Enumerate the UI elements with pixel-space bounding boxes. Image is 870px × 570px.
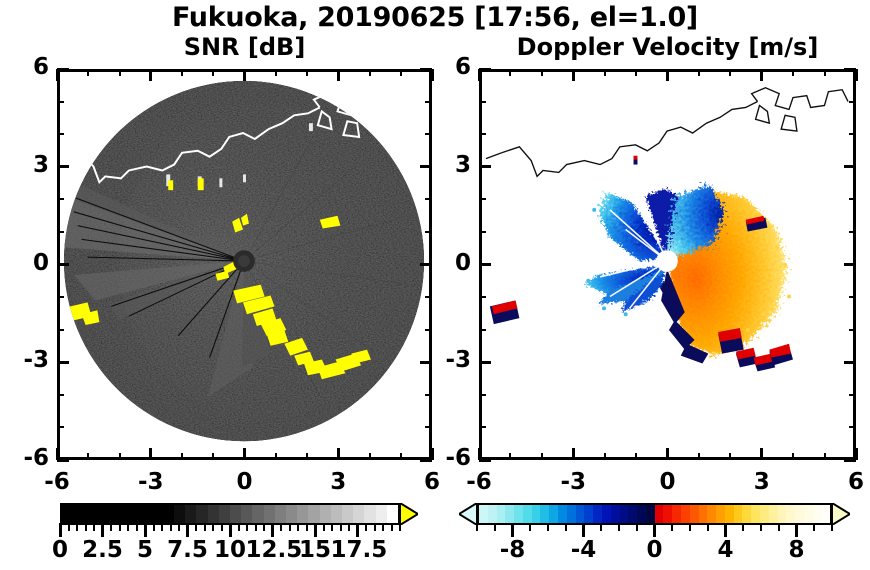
y-tick-minor	[425, 231, 432, 233]
x-tick-minor	[400, 69, 402, 76]
x-tick-label: -6	[449, 469, 509, 495]
doppler-colorbar	[477, 503, 832, 525]
x-tick-minor	[87, 69, 89, 76]
y-tick-minor	[425, 198, 432, 200]
colorbar-tick-minor	[671, 523, 673, 531]
colorbar-cell	[174, 505, 185, 523]
y-tick-minor	[425, 296, 432, 298]
colorbar-tick-label: 8	[770, 537, 824, 563]
y-tick-major	[844, 263, 856, 266]
y-tick-minor	[479, 231, 486, 233]
colorbar-cell	[84, 505, 95, 523]
colorbar-cell	[637, 505, 646, 523]
colorbar-cell	[734, 505, 743, 523]
colorbar-tick-major	[724, 523, 727, 537]
x-tick-major	[666, 69, 669, 81]
doppler-plot-area[interactable]	[479, 69, 856, 460]
x-tick-minor	[698, 69, 700, 76]
y-tick-major	[844, 68, 856, 71]
snr-colorbar-gradient	[60, 503, 400, 525]
y-tick-label: 0	[429, 250, 471, 276]
colorbar-tick-minor	[161, 523, 163, 531]
y-tick-minor	[425, 394, 432, 396]
colorbar-cell	[593, 505, 602, 523]
doppler-colorbar-gradient	[477, 503, 832, 525]
colorbar-tick-minor	[238, 523, 240, 531]
x-tick-minor	[119, 453, 121, 460]
y-tick-minor	[849, 394, 856, 396]
colorbar-cell	[795, 505, 804, 523]
x-tick-label: -6	[27, 469, 87, 495]
colorbar-tick-minor	[263, 523, 265, 531]
y-tick-minor	[849, 133, 856, 135]
colorbar-cell	[152, 505, 163, 523]
colorbar-cell	[804, 505, 813, 523]
x-tick-minor	[87, 453, 89, 460]
x-tick-minor	[729, 453, 731, 460]
y-tick-minor	[479, 133, 486, 135]
colorbar-cell	[286, 505, 297, 523]
colorbar-tick-minor	[323, 523, 325, 531]
y-tick-label: 3	[429, 152, 471, 178]
colorbar-tick-minor	[280, 523, 282, 531]
x-tick-minor	[509, 453, 511, 460]
colorbar-cell	[479, 505, 488, 523]
colorbar-tick-minor	[195, 523, 197, 531]
x-tick-minor	[369, 69, 371, 76]
colorbar-tick-minor	[529, 523, 531, 531]
colorbar-tick-minor	[565, 523, 567, 531]
colorbar-tick-minor	[476, 523, 478, 531]
y-tick-minor	[425, 329, 432, 331]
colorbar-cell	[129, 505, 140, 523]
colorbar-tick-minor	[600, 523, 602, 531]
colorbar-cell	[208, 505, 219, 523]
x-tick-minor	[792, 453, 794, 460]
y-tick-label: -6	[429, 445, 471, 471]
colorbar-tick-minor	[110, 523, 112, 531]
colorbar-cell	[716, 505, 725, 523]
colorbar-tick-minor	[221, 523, 223, 531]
x-tick-minor	[824, 69, 826, 76]
right-panel-title: Doppler Velocity [m/s]	[479, 33, 856, 61]
colorbar-tick-major	[59, 523, 62, 537]
colorbar-cell	[523, 505, 532, 523]
y-tick-major	[57, 263, 69, 266]
colorbar-cell	[387, 505, 398, 523]
colorbar-tick-label: 17.5	[331, 537, 385, 563]
colorbar-tick-minor	[813, 523, 815, 531]
x-tick-minor	[306, 69, 308, 76]
colorbar-cell	[342, 505, 353, 523]
colorbar-tick-minor	[178, 523, 180, 531]
colorbar-cell	[646, 505, 655, 523]
y-tick-minor	[57, 426, 64, 428]
x-tick-minor	[509, 69, 511, 76]
y-tick-label: -6	[7, 445, 49, 471]
y-tick-major	[479, 165, 491, 168]
colorbar-cell	[219, 505, 230, 523]
y-tick-minor	[849, 198, 856, 200]
x-tick-minor	[541, 453, 543, 460]
colorbar-tick-minor	[831, 523, 833, 531]
colorbar-tick-minor	[707, 523, 709, 531]
colorbar-tick-minor	[340, 523, 342, 531]
y-tick-major	[844, 361, 856, 364]
colorbar-cell	[275, 505, 286, 523]
y-tick-label: -3	[429, 347, 471, 373]
colorbar-cell	[96, 505, 107, 523]
x-tick-major	[243, 69, 246, 81]
colorbar-cell	[320, 505, 331, 523]
x-tick-major	[666, 448, 669, 460]
x-tick-label: -3	[543, 469, 603, 495]
y-tick-minor	[479, 426, 486, 428]
y-tick-major	[844, 165, 856, 168]
colorbar-cell	[760, 505, 769, 523]
y-tick-minor	[849, 101, 856, 103]
colorbar-cell	[672, 505, 681, 523]
colorbar-cell	[241, 505, 252, 523]
x-tick-minor	[635, 453, 637, 460]
x-tick-minor	[824, 453, 826, 460]
y-tick-minor	[57, 198, 64, 200]
colorbar-cell	[140, 505, 151, 523]
colorbar-tick-minor	[119, 523, 121, 531]
colorbar-cell	[786, 505, 795, 523]
y-tick-minor	[57, 296, 64, 298]
colorbar-tick-minor	[127, 523, 129, 531]
doppler-colorbar-extend-arrow-high	[832, 503, 850, 525]
y-tick-major	[57, 361, 69, 364]
x-tick-label: 0	[638, 469, 698, 495]
x-tick-label: -3	[121, 469, 181, 495]
colorbar-tick-major	[101, 523, 104, 537]
colorbar-cell	[505, 505, 514, 523]
x-tick-major	[243, 448, 246, 460]
y-tick-major	[479, 263, 491, 266]
colorbar-cell	[185, 505, 196, 523]
doppler-colorbar-extend-arrow-low	[459, 503, 477, 525]
x-tick-minor	[212, 69, 214, 76]
colorbar-cell	[576, 505, 585, 523]
colorbar-tick-minor	[170, 523, 172, 531]
y-tick-minor	[479, 394, 486, 396]
colorbar-tick-minor	[255, 523, 257, 531]
x-tick-minor	[275, 453, 277, 460]
x-tick-major	[337, 448, 340, 460]
y-tick-major	[479, 459, 491, 462]
x-tick-major	[760, 448, 763, 460]
x-tick-minor	[306, 453, 308, 460]
colorbar-tick-label: -8	[486, 537, 540, 563]
colorbar-tick-minor	[547, 523, 549, 531]
x-tick-minor	[698, 453, 700, 460]
colorbar-cell	[628, 505, 637, 523]
colorbar-tick-major	[511, 523, 514, 537]
clutter-echo-north	[634, 156, 638, 165]
colorbar-cell	[620, 505, 629, 523]
colorbar-tick-minor	[760, 523, 762, 531]
colorbar-tick-minor	[365, 523, 367, 531]
colorbar-cell	[611, 505, 620, 523]
colorbar-tick-major	[144, 523, 147, 537]
x-tick-major	[572, 69, 575, 81]
colorbar-cell	[196, 505, 207, 523]
colorbar-tick-minor	[153, 523, 155, 531]
colorbar-cell	[584, 505, 593, 523]
colorbar-tick-minor	[391, 523, 393, 531]
colorbar-cell	[602, 505, 611, 523]
x-tick-minor	[635, 69, 637, 76]
colorbar-cell	[62, 505, 73, 523]
colorbar-tick-major	[356, 523, 359, 537]
colorbar-tick-minor	[76, 523, 78, 531]
colorbar-cell	[532, 505, 541, 523]
x-tick-major	[478, 69, 481, 81]
colorbar-cell	[331, 505, 342, 523]
y-tick-major	[479, 68, 491, 71]
colorbar-tick-minor	[93, 523, 95, 531]
colorbar-cell	[488, 505, 497, 523]
y-tick-minor	[57, 231, 64, 233]
colorbar-tick-major	[653, 523, 656, 537]
colorbar-cell	[252, 505, 263, 523]
x-tick-minor	[275, 69, 277, 76]
colorbar-tick-label: 0	[628, 537, 682, 563]
y-tick-label: 3	[7, 152, 49, 178]
colorbar-cell	[742, 505, 751, 523]
x-tick-major	[149, 69, 152, 81]
x-tick-minor	[369, 453, 371, 460]
colorbar-tick-major	[271, 523, 274, 537]
y-tick-minor	[479, 296, 486, 298]
snr-ppi-image	[60, 72, 429, 457]
colorbar-cell	[376, 505, 387, 523]
left-panel-title: SNR [dB]	[57, 33, 432, 61]
colorbar-cell	[163, 505, 174, 523]
colorbar-tick-major	[582, 523, 585, 537]
doppler-ppi-image	[482, 72, 853, 457]
x-tick-minor	[119, 69, 121, 76]
colorbar-cell	[230, 505, 241, 523]
y-tick-major	[57, 459, 69, 462]
colorbar-cell	[778, 505, 787, 523]
colorbar-tick-minor	[618, 523, 620, 531]
y-tick-major	[57, 68, 69, 71]
colorbar-cell	[769, 505, 778, 523]
colorbar-cell	[549, 505, 558, 523]
y-tick-minor	[57, 394, 64, 396]
x-tick-minor	[792, 69, 794, 76]
y-tick-minor	[849, 231, 856, 233]
colorbar-tick-minor	[331, 523, 333, 531]
colorbar-tick-minor	[246, 523, 248, 531]
y-tick-minor	[479, 329, 486, 331]
y-tick-label: 6	[7, 54, 49, 80]
colorbar-tick-label: 4	[699, 537, 753, 563]
y-tick-minor	[57, 133, 64, 135]
colorbar-tick-minor	[494, 523, 496, 531]
colorbar-cell	[264, 505, 275, 523]
colorbar-cell	[655, 505, 664, 523]
colorbar-tick-minor	[374, 523, 376, 531]
x-tick-major	[572, 448, 575, 460]
x-tick-label: 6	[826, 469, 870, 495]
colorbar-tick-minor	[212, 523, 214, 531]
colorbar-cell	[364, 505, 375, 523]
x-tick-minor	[181, 453, 183, 460]
x-tick-minor	[212, 453, 214, 460]
x-tick-minor	[181, 69, 183, 76]
y-tick-minor	[425, 133, 432, 135]
colorbar-tick-minor	[348, 523, 350, 531]
colorbar-cell	[497, 505, 506, 523]
x-tick-minor	[604, 69, 606, 76]
colorbar-cell	[813, 505, 822, 523]
y-tick-minor	[57, 101, 64, 103]
colorbar-cell	[558, 505, 567, 523]
colorbar-cell	[663, 505, 672, 523]
y-tick-minor	[425, 426, 432, 428]
colorbar-cell	[514, 505, 523, 523]
y-tick-label: 0	[7, 250, 49, 276]
colorbar-tick-minor	[399, 523, 401, 531]
colorbar-cell	[567, 505, 576, 523]
x-tick-major	[855, 69, 858, 81]
colorbar-tick-minor	[85, 523, 87, 531]
colorbar-tick-minor	[778, 523, 780, 531]
y-tick-major	[479, 361, 491, 364]
x-tick-minor	[541, 69, 543, 76]
colorbar-cell	[73, 505, 84, 523]
figure-title: Fukuoka, 20190625 [17:56, el=1.0]	[0, 2, 870, 33]
x-tick-minor	[604, 453, 606, 460]
y-tick-minor	[425, 101, 432, 103]
colorbar-cell	[725, 505, 734, 523]
colorbar-tick-minor	[382, 523, 384, 531]
snr-colorbar-extend-arrow	[400, 503, 418, 525]
colorbar-tick-minor	[636, 523, 638, 531]
y-tick-label: -3	[7, 347, 49, 373]
x-tick-minor	[400, 453, 402, 460]
x-tick-major	[760, 69, 763, 81]
colorbar-tick-minor	[289, 523, 291, 531]
colorbar-cell	[118, 505, 129, 523]
colorbar-tick-minor	[689, 523, 691, 531]
colorbar-cell	[297, 505, 308, 523]
figure-canvas: Fukuoka, 20190625 [17:56, el=1.0] SNR [d…	[0, 0, 870, 570]
colorbar-cell	[107, 505, 118, 523]
colorbar-tick-minor	[204, 523, 206, 531]
colorbar-cell	[821, 505, 830, 523]
colorbar-tick-label: -4	[557, 537, 611, 563]
colorbar-tick-minor	[306, 523, 308, 531]
colorbar-tick-minor	[136, 523, 138, 531]
y-tick-minor	[849, 329, 856, 331]
y-tick-minor	[57, 329, 64, 331]
colorbar-cell	[707, 505, 716, 523]
colorbar-tick-major	[795, 523, 798, 537]
y-tick-minor	[479, 198, 486, 200]
colorbar-tick-major	[229, 523, 232, 537]
x-tick-label: 3	[308, 469, 368, 495]
colorbar-cell	[540, 505, 549, 523]
colorbar-tick-minor	[68, 523, 70, 531]
colorbar-cell	[681, 505, 690, 523]
x-tick-major	[337, 69, 340, 81]
colorbar-cell	[353, 505, 364, 523]
y-tick-label: 6	[429, 54, 471, 80]
colorbar-tick-major	[186, 523, 189, 537]
colorbar-tick-minor	[742, 523, 744, 531]
colorbar-cell	[699, 505, 708, 523]
snr-colorbar	[60, 503, 400, 525]
x-tick-major	[56, 69, 59, 81]
snr-plot-area[interactable]	[57, 69, 432, 460]
y-tick-minor	[849, 296, 856, 298]
colorbar-cell	[308, 505, 319, 523]
colorbar-tick-minor	[297, 523, 299, 531]
y-tick-minor	[479, 101, 486, 103]
y-tick-major	[844, 459, 856, 462]
x-tick-minor	[729, 69, 731, 76]
y-tick-major	[57, 165, 69, 168]
x-tick-label: 3	[732, 469, 792, 495]
colorbar-tick-major	[314, 523, 317, 537]
colorbar-cell	[690, 505, 699, 523]
x-tick-label: 0	[215, 469, 275, 495]
x-tick-major	[149, 448, 152, 460]
y-tick-minor	[849, 426, 856, 428]
colorbar-cell	[751, 505, 760, 523]
